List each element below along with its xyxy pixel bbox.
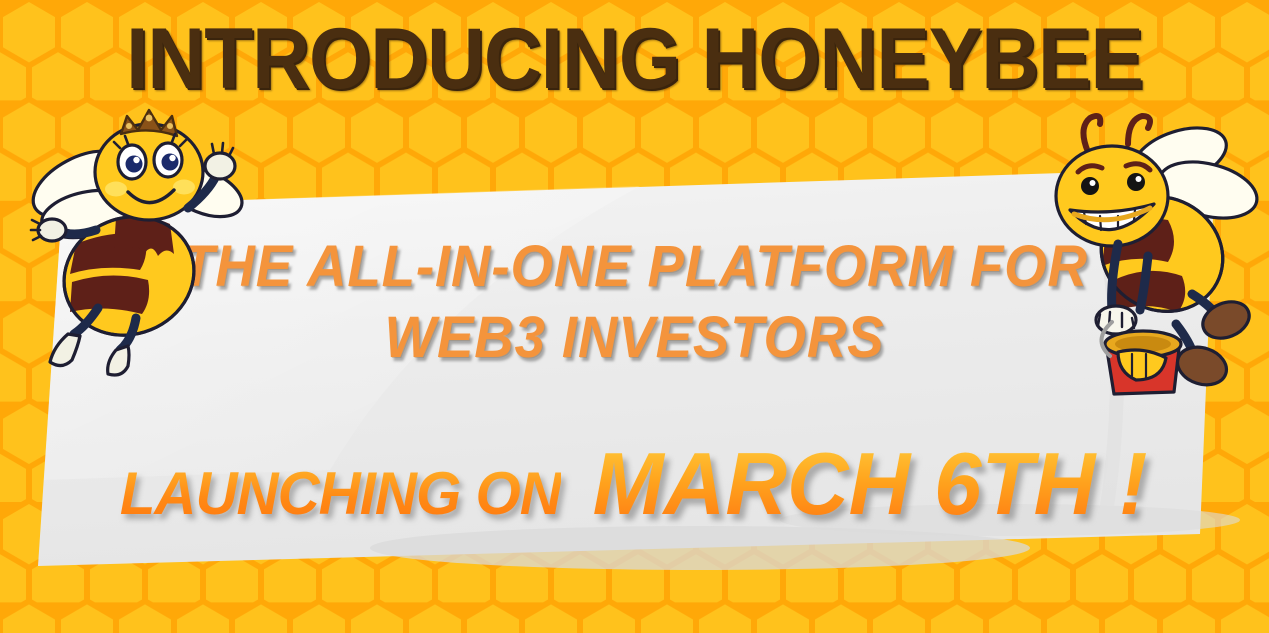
banner-title: INTRODUCING HONEYBEE	[44, 16, 1224, 102]
queen-bee-character	[24, 104, 244, 374]
subtitle-line-1: THE ALL-IN-ONE PLATFORM FOR	[181, 234, 1088, 299]
launch-date-line: LAUNCHING ONMARCH 6TH !	[0, 440, 1269, 528]
launch-lead-text: LAUNCHING ON	[120, 464, 561, 524]
launch-date-text: MARCH 6TH !	[592, 440, 1147, 528]
promo-banner: INTRODUCING HONEYBEE THE ALL-IN-ONE PLAT…	[0, 0, 1269, 633]
worker-bee-character	[1040, 104, 1265, 389]
